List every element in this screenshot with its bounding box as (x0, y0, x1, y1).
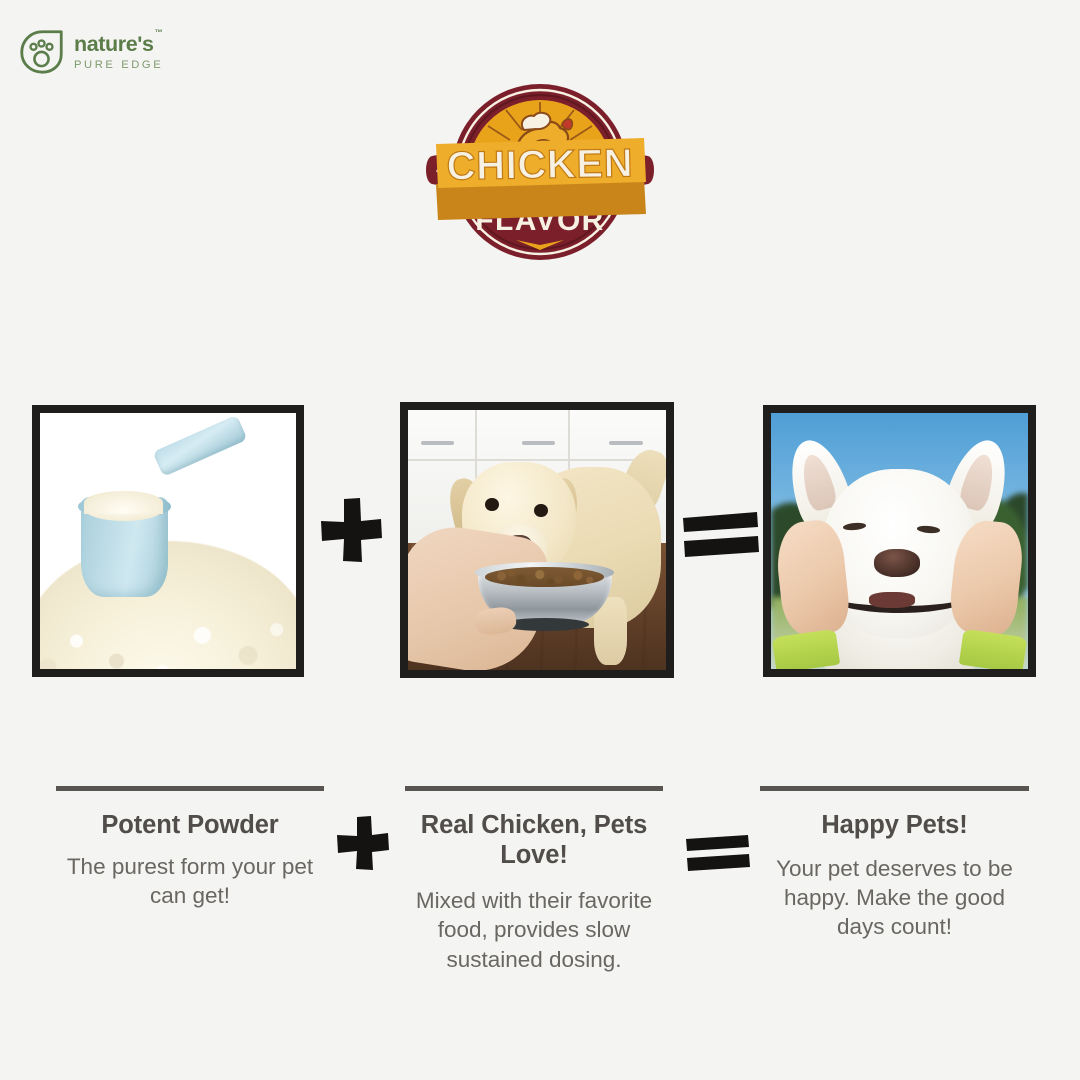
brand-wordmark: nature's™ PURE EDGE (74, 32, 163, 71)
brand-tagline: PURE EDGE (74, 60, 163, 71)
powder-scoop-photo (32, 405, 304, 677)
benefit-column-happy: Happy Pets! Your pet deserves to be happ… (760, 786, 1029, 941)
paw-leaf-icon (18, 28, 65, 75)
trademark-symbol: ™ (155, 28, 163, 37)
brand-logo: nature's™ PURE EDGE (18, 28, 163, 75)
benefit-column-chicken: Real Chicken, Pets Love! Mixed with thei… (405, 786, 663, 974)
happy-dog-photo (763, 405, 1036, 677)
benefit-column-powder: Potent Powder The purest form your pet c… (56, 786, 324, 910)
divider (760, 786, 1029, 791)
badge-banner-text: CHICKEN (446, 141, 633, 188)
benefit-title: Happy Pets! (760, 811, 1029, 841)
plus-icon (319, 497, 383, 563)
brand-name: nature's™ (74, 34, 163, 56)
equals-icon (680, 510, 760, 560)
infographic-page: nature's™ PURE EDGE (0, 0, 1080, 1080)
divider (56, 786, 324, 791)
equals-icon (684, 833, 750, 873)
brand-name-text: nature's (74, 32, 154, 56)
divider (405, 786, 663, 791)
dog-bowl-photo (400, 402, 674, 678)
chicken-flavor-badge: FLAVOR CHICKEN (418, 78, 662, 268)
benefit-body: Mixed with their favorite food, provides… (405, 886, 663, 974)
plus-icon (336, 815, 390, 871)
benefit-title: Potent Powder (56, 811, 324, 841)
photo-row (0, 402, 1080, 678)
benefit-body: Your pet deserves to be happy. Make the … (760, 854, 1029, 942)
benefit-body: The purest form your pet can get! (56, 852, 324, 911)
benefit-title: Real Chicken, Pets Love! (405, 811, 663, 870)
